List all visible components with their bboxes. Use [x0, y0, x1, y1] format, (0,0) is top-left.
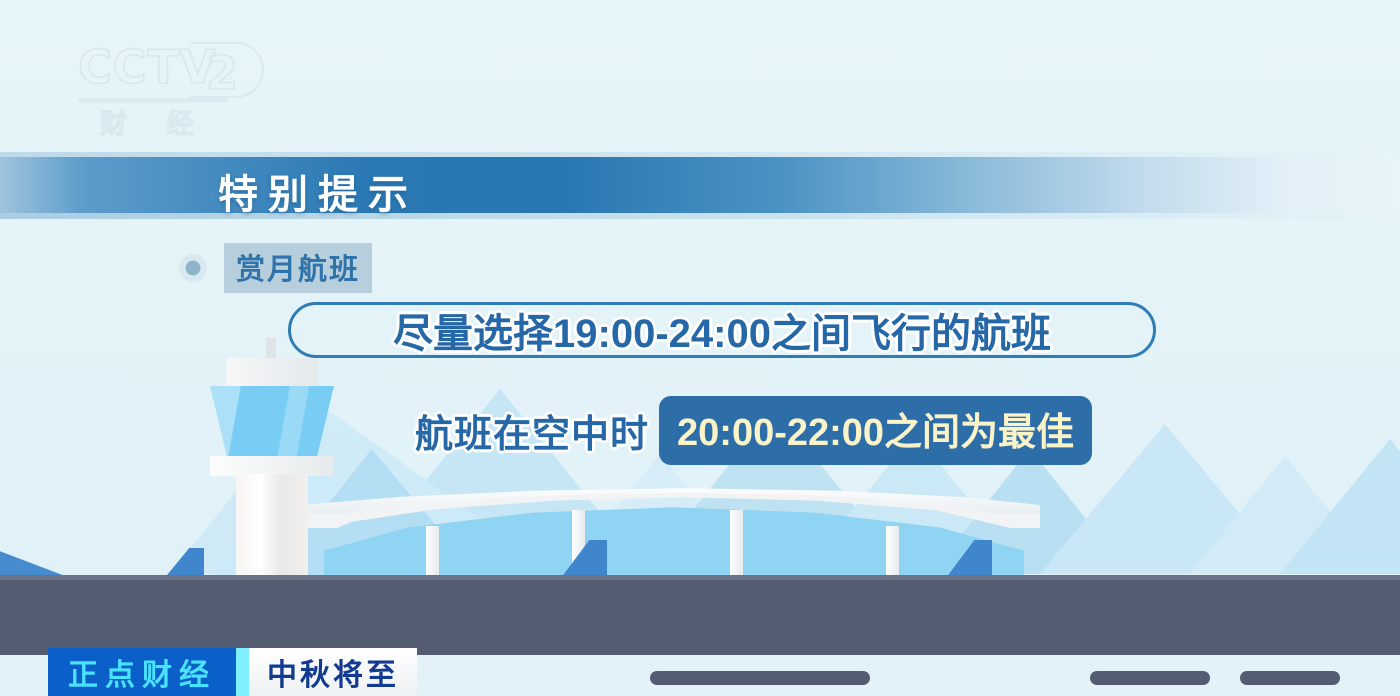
ticker-topic-block: 中秋将至	[249, 648, 417, 696]
subline-lead-text: 航班在空中时	[415, 403, 649, 458]
mountain-shape	[1280, 439, 1400, 574]
runway-dash	[1240, 671, 1340, 685]
runway-dash	[650, 671, 870, 685]
bottom-ticker: 正点财经 中秋将至	[48, 648, 417, 696]
bullet-label: 赏月航班	[224, 243, 372, 293]
ticker-program-label: 正点财经	[68, 650, 216, 694]
cctv2-watermark-icon: CCTV 2 财 经	[78, 44, 268, 136]
broadcast-frame: CCTV 2 财 经 特别提示 赏月航班 尽量选择19:00-24:00之间飞行…	[0, 0, 1400, 696]
bullet-row: 赏月航班	[178, 243, 372, 293]
subline-highlight-text: 20:00-22:00之间为最佳	[677, 412, 1074, 454]
headline-text: 尽量选择19:00-24:00之间飞行的航班	[393, 301, 1051, 359]
tower-roof	[226, 358, 318, 388]
ticker-divider	[236, 648, 249, 696]
headline-pill: 尽量选择19:00-24:00之间飞行的航班	[288, 302, 1156, 358]
banner-title: 特别提示	[218, 162, 418, 220]
bullet-dot-icon	[178, 253, 208, 283]
ticker-topic-label: 中秋将至	[267, 650, 399, 694]
runway-edge-line	[0, 575, 1400, 580]
subline-row: 航班在空中时 20:00-22:00之间为最佳	[415, 396, 1092, 465]
tower-glass-highlight	[210, 386, 334, 458]
banner-bottom-edge	[0, 213, 1400, 219]
ticker-program-block: 正点财经	[48, 648, 236, 696]
logo-subtitle: 财 经	[100, 102, 210, 141]
subline-highlight-box: 20:00-22:00之间为最佳	[659, 396, 1092, 465]
runway-dash	[1090, 671, 1210, 685]
tower-mast	[266, 338, 276, 360]
title-banner	[0, 157, 1400, 213]
tower-ledge	[210, 456, 334, 476]
logo-channel-number: 2	[206, 46, 238, 100]
